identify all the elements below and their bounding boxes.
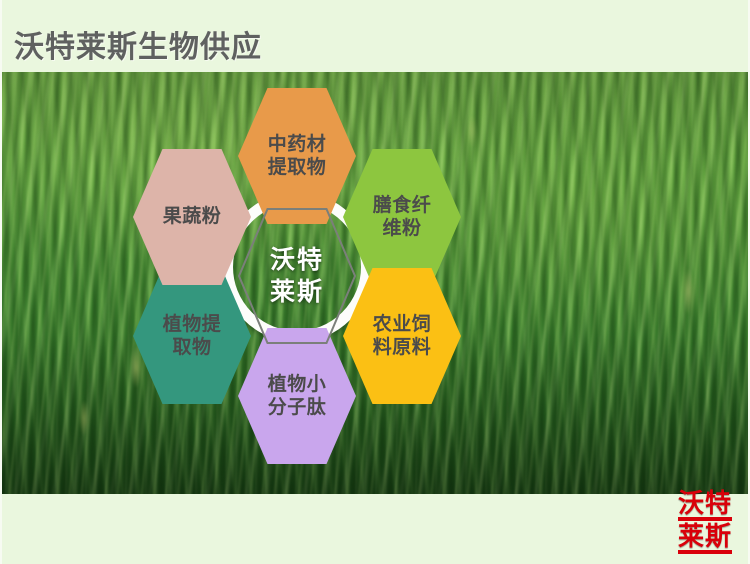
bottom-plate	[0, 494, 750, 564]
center-brand-label: 沃特 莱斯	[270, 244, 324, 308]
logo-line-1: 沃特	[678, 490, 732, 521]
hex-label-tcm-extracts: 中药材 提取物	[262, 133, 333, 179]
hex-label-dietary-fiber-powder: 膳食纤 维粉	[367, 194, 438, 240]
hex-label-fruit-vegetable-powder: 果蔬粉	[157, 205, 228, 228]
logo-line-2: 莱斯	[678, 523, 732, 554]
hex-label-plant-extracts: 植物提 取物	[157, 313, 228, 359]
page-title: 沃特莱斯生物供应	[14, 22, 262, 66]
title-band: 沃特莱斯生物供应	[0, 0, 750, 72]
hex-label-plant-peptides: 植物小 分子肽	[262, 373, 333, 419]
hexagon-product-wheel: 中药材 提取物 膳食纤 维粉 农业饲 料原料 植物小 分子肽 植物提 取物 果蔬…	[0, 72, 750, 494]
company-logo-mark: 沃特 莱斯	[678, 490, 732, 554]
hex-node-plant-peptides[interactable]: 植物小 分子肽	[238, 328, 356, 464]
hex-label-agricultural-feed-material: 农业饲 料原料	[367, 313, 438, 359]
product-overview-slide: 沃特莱斯生物供应 中药材 提取物 膳食纤 维粉 农业饲 料原料 植物小 分子肽 …	[0, 0, 750, 564]
hex-node-center-brand[interactable]: 沃特 莱斯	[238, 208, 356, 344]
